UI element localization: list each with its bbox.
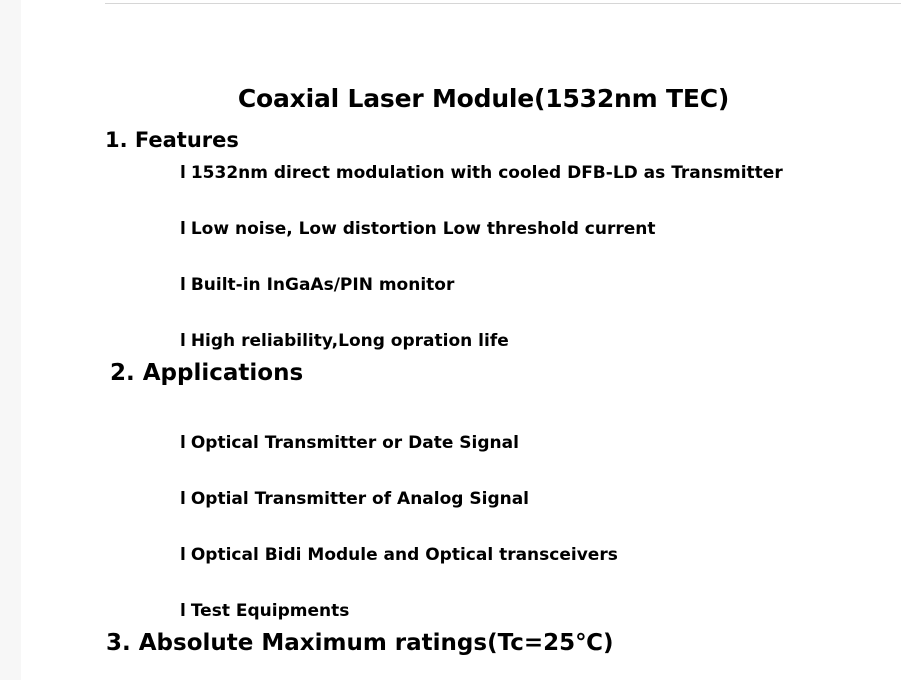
list-item: lBuilt-in InGaAs/PIN monitor bbox=[180, 274, 454, 296]
bullet-icon: l bbox=[180, 432, 186, 454]
list-item-label: 1532nm direct modulation with cooled DFB… bbox=[191, 163, 783, 183]
list-item: lHigh reliability,Long opration life bbox=[180, 330, 509, 352]
page-title: Coaxial Laser Module(1532nm TEC) bbox=[0, 84, 901, 113]
list-item-label: Optial Transmitter of Analog Signal bbox=[191, 489, 529, 509]
list-item-label: Low noise, Low distortion Low threshold … bbox=[191, 219, 656, 239]
list-item: lOptial Transmitter of Analog Signal bbox=[180, 488, 529, 510]
list-item: lOptical Bidi Module and Optical transce… bbox=[180, 544, 618, 566]
section-heading-absolute-maximum-ratings: 3. Absolute Maximum ratings(Tc=25℃) bbox=[106, 630, 614, 656]
bullet-icon: l bbox=[180, 600, 186, 622]
list-item-label: Optical Transmitter or Date Signal bbox=[191, 433, 519, 453]
list-item: lTest Equipments bbox=[180, 600, 349, 622]
section-heading-applications: 2. Applications bbox=[110, 360, 303, 386]
bullet-icon: l bbox=[180, 544, 186, 566]
bullet-icon: l bbox=[180, 488, 186, 510]
document-page: Coaxial Laser Module(1532nm TEC) 1. Feat… bbox=[0, 0, 901, 680]
list-item: lOptical Transmitter or Date Signal bbox=[180, 432, 519, 454]
bullet-icon: l bbox=[180, 330, 186, 352]
list-item: lLow noise, Low distortion Low threshold… bbox=[180, 218, 656, 240]
list-item-label: Built-in InGaAs/PIN monitor bbox=[191, 275, 455, 295]
section-heading-features: 1. Features bbox=[105, 128, 239, 152]
list-item-label: High reliability,Long opration life bbox=[191, 331, 509, 351]
bullet-icon: l bbox=[180, 274, 186, 296]
list-item-label: Optical Bidi Module and Optical transcei… bbox=[191, 545, 618, 565]
list-item-label: Test Equipments bbox=[191, 601, 350, 621]
bullet-icon: l bbox=[180, 218, 186, 240]
bullet-icon: l bbox=[180, 162, 186, 184]
list-item: l1532nm direct modulation with cooled DF… bbox=[180, 162, 783, 184]
